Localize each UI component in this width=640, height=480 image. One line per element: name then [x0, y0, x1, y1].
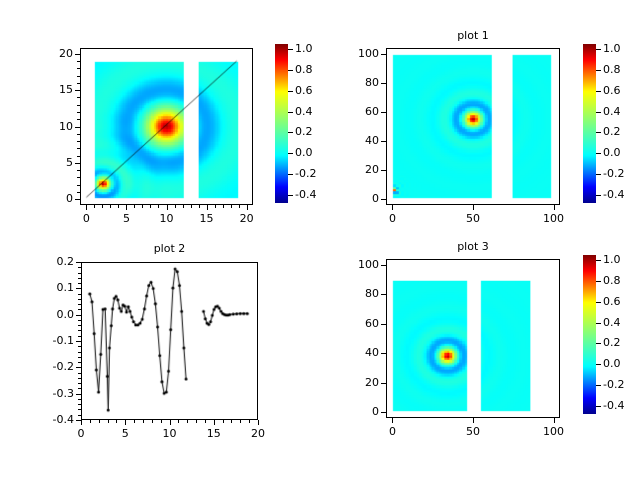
ytick-major [381, 383, 386, 384]
colorbar-tick-label: 1.0 [603, 254, 621, 265]
xtick-major [392, 418, 393, 423]
xtick-label: 100 [524, 426, 584, 437]
panel-title-bottom-right: plot 3 [386, 241, 560, 253]
ytick-label: 60 [319, 318, 379, 329]
ytick-major [381, 324, 386, 325]
xtick-major [554, 418, 555, 423]
colorbar-tick-label: 0.4 [603, 317, 621, 328]
ytick-label: 0 [319, 406, 379, 417]
colorbar-tick-label: 0.2 [603, 337, 621, 348]
ytick-major [381, 353, 386, 354]
xtick-label: 0 [362, 426, 422, 437]
xtick-label: 50 [443, 426, 503, 437]
colorbar-tick-label: -0.2 [603, 379, 624, 390]
ytick-major [381, 294, 386, 295]
figure-canvas: 0510152005101520-0.4-0.20.00.20.40.60.81… [0, 0, 640, 480]
xtick-major [473, 418, 474, 423]
colorbar-tick [596, 343, 601, 344]
ytick-major [381, 265, 386, 266]
ytick-label: 100 [319, 259, 379, 270]
colorbar-tick [596, 260, 601, 261]
ytick-label: 40 [319, 347, 379, 358]
ytick-major [381, 412, 386, 413]
heatmap-canvas-bottom-right [387, 260, 559, 417]
ytick-label: 80 [319, 288, 379, 299]
colorbar-tick [596, 323, 601, 324]
ytick-label: 20 [319, 377, 379, 388]
colorbar-tick [596, 281, 601, 282]
colorbar-tick [596, 364, 601, 365]
colorbar-tick-label: 0.0 [603, 358, 621, 369]
colorbar-tick-label: 0.6 [603, 296, 621, 307]
colorbar-tick-label: 0.8 [603, 275, 621, 286]
colorbar-tick-label: -0.4 [603, 400, 624, 411]
panel-bottom-right: plot 3020406080100050100-0.4-0.20.00.20.… [0, 0, 640, 480]
colorbar-tick [596, 302, 601, 303]
colorbar-tick [596, 406, 601, 407]
colorbar-tick [596, 385, 601, 386]
colorbar-bottom-right [583, 255, 596, 414]
